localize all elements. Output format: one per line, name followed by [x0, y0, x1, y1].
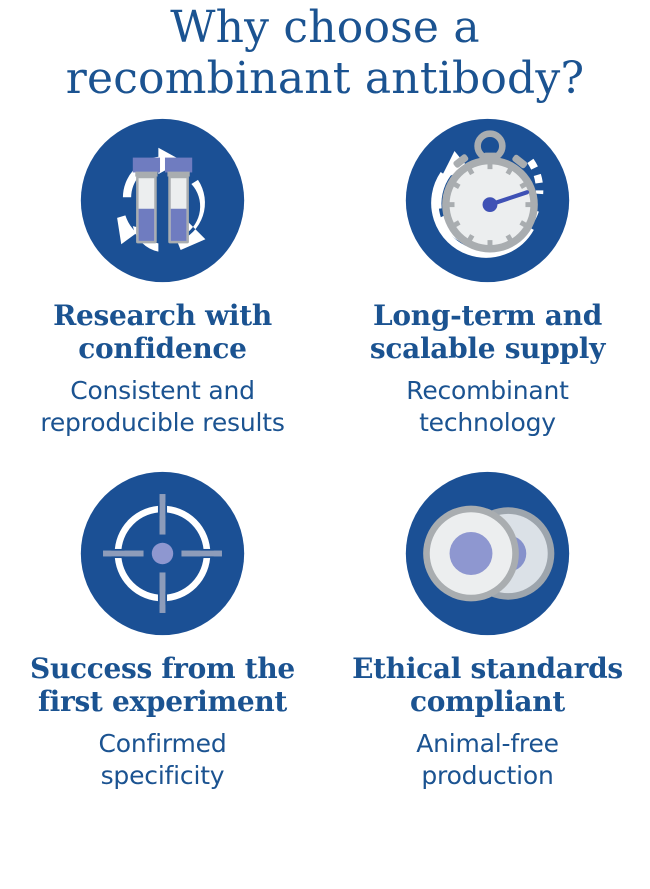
feature-subtext-line-2: reproducible results	[40, 407, 284, 439]
feature-heading-line-1: Long-term and	[370, 299, 605, 332]
feature-heading: Ethical standards compliant	[352, 652, 623, 718]
feature-heading-line-2: scalable supply	[370, 332, 605, 365]
feature-heading: Long-term and scalable supply	[370, 299, 605, 365]
page-title-line-1: Why choose a	[0, 2, 650, 53]
feature-heading-line-1: Ethical standards	[352, 652, 623, 685]
feature-subtext: Confirmed specificity	[99, 728, 227, 792]
feature-subtext-line-2: technology	[406, 407, 568, 439]
feature-grid: Research with confidence Consistent and …	[0, 118, 650, 792]
feature-heading-line-2: compliant	[352, 685, 623, 718]
vials-recycle-icon	[80, 118, 245, 283]
stopwatch-arrow-icon	[405, 118, 570, 283]
page-title-line-2: recombinant antibody?	[0, 53, 650, 104]
page-title: Why choose a recombinant antibody?	[0, 0, 650, 104]
feature-subtext-line-2: specificity	[99, 760, 227, 792]
feature-card-ethical-standards-compliant: Ethical standards compliant Animal-free …	[325, 471, 650, 792]
feature-subtext-line-2: production	[416, 760, 559, 792]
feature-card-research-with-confidence: Research with confidence Consistent and …	[0, 118, 325, 439]
feature-heading-line-1: Research with	[53, 299, 272, 332]
feature-heading: Success from the first experiment	[30, 652, 295, 718]
feature-subtext: Recombinant technology	[406, 375, 568, 439]
feature-subtext-line-1: Consistent and	[40, 375, 284, 407]
feature-subtext-line-1: Recombinant	[406, 375, 568, 407]
two-cells-icon	[405, 471, 570, 636]
feature-heading: Research with confidence	[53, 299, 272, 365]
infographic-root: Why choose a recombinant antibody?	[0, 0, 650, 889]
feature-card-success-first-experiment: Success from the first experiment Confir…	[0, 471, 325, 792]
feature-heading-line-2: confidence	[53, 332, 272, 365]
feature-subtext: Consistent and reproducible results	[40, 375, 284, 439]
feature-subtext-line-1: Confirmed	[99, 728, 227, 760]
crosshair-target-icon	[80, 471, 245, 636]
feature-heading-line-1: Success from the	[30, 652, 295, 685]
feature-heading-line-2: first experiment	[30, 685, 295, 718]
feature-card-long-term-scalable-supply: Long-term and scalable supply Recombinan…	[325, 118, 650, 439]
feature-subtext: Animal-free production	[416, 728, 559, 792]
feature-subtext-line-1: Animal-free	[416, 728, 559, 760]
